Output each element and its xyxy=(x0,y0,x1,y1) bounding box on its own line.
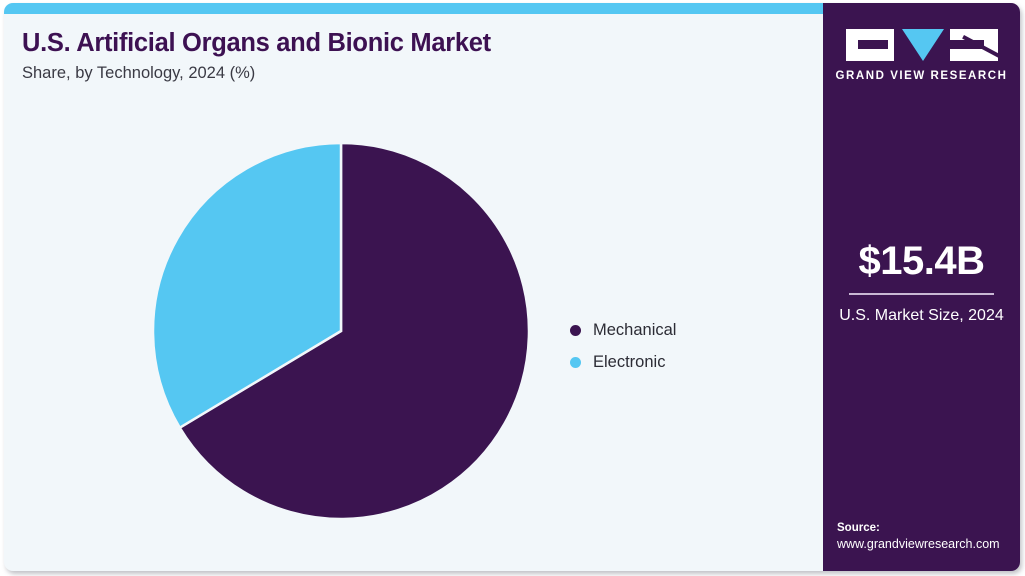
logo-marks xyxy=(846,29,998,61)
pie-chart xyxy=(150,140,532,522)
logo-g-icon xyxy=(846,29,894,61)
logo-v-triangle-icon xyxy=(902,29,944,61)
market-size-stat: $15.4B U.S. Market Size, 2024 xyxy=(823,241,1020,326)
stat-divider xyxy=(849,293,994,295)
sidebar-panel: GRAND VIEW RESEARCH $15.4B U.S. Market S… xyxy=(823,3,1020,571)
source-block: Source: www.grandviewresearch.com xyxy=(837,521,1020,553)
legend-label-mechanical: Mechanical xyxy=(593,321,676,340)
brand-logo: GRAND VIEW RESEARCH xyxy=(823,29,1020,82)
top-accent-bar xyxy=(4,3,823,14)
page-subtitle: Share, by Technology, 2024 (%) xyxy=(22,64,802,84)
source-label: Source: xyxy=(837,521,1020,537)
page-title: U.S. Artificial Organs and Bionic Market xyxy=(22,29,802,58)
pie-slice-group xyxy=(153,143,529,519)
legend-swatch-mechanical xyxy=(570,325,581,336)
logo-r-icon xyxy=(950,29,998,61)
chart-panel: U.S. Artificial Organs and Bionic Market… xyxy=(4,14,823,571)
legend-item-mechanical[interactable]: Mechanical xyxy=(570,314,810,346)
chart-legend: Mechanical Electronic xyxy=(570,314,810,378)
stat-value: $15.4B xyxy=(823,241,1020,281)
infographic-card: U.S. Artificial Organs and Bionic Market… xyxy=(4,3,1020,571)
legend-label-electronic: Electronic xyxy=(593,353,665,372)
legend-item-electronic[interactable]: Electronic xyxy=(570,346,810,378)
brand-name: GRAND VIEW RESEARCH xyxy=(823,70,1020,82)
legend-swatch-electronic xyxy=(570,357,581,368)
title-block: U.S. Artificial Organs and Bionic Market… xyxy=(22,29,802,84)
stat-caption: U.S. Market Size, 2024 xyxy=(823,305,1020,327)
source-url[interactable]: www.grandviewresearch.com xyxy=(837,536,1020,553)
pie-chart-svg xyxy=(150,140,532,522)
